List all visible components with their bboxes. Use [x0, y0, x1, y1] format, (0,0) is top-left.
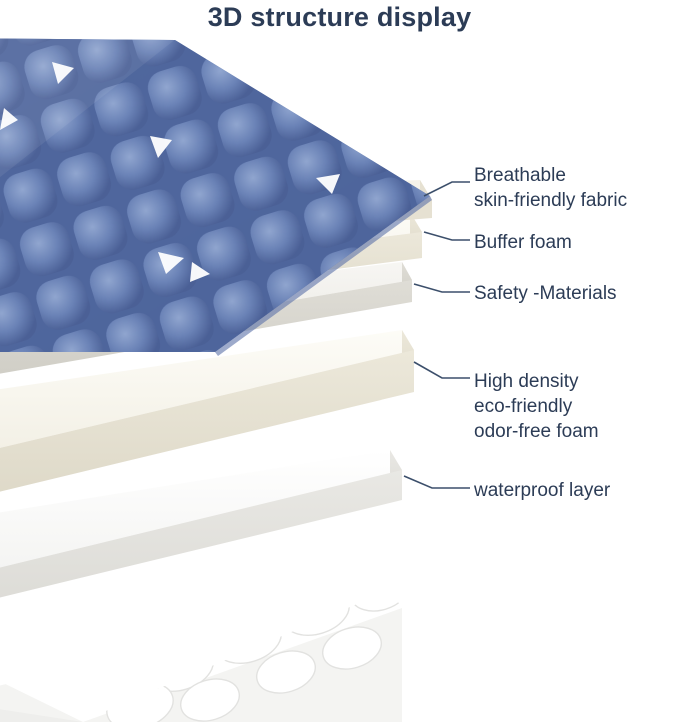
label-high-density-foam: High density eco-friendly odor-free foam	[474, 369, 599, 444]
label-waterproof-layer: waterproof layer	[474, 478, 610, 503]
structure-diagram: 3D structure display	[0, 0, 679, 722]
layer-base-quilt	[0, 562, 415, 722]
leader-line-buffer-foam	[424, 232, 470, 240]
leader-line-breathable-fabric	[424, 182, 470, 196]
layers-illustration	[0, 0, 679, 722]
leader-line-high-density-foam	[414, 362, 470, 378]
label-breathable-fabric: Breathable skin-friendly fabric	[474, 163, 627, 213]
label-safety-materials: Safety -Materials	[474, 281, 617, 306]
label-buffer-foam: Buffer foam	[474, 230, 572, 255]
leader-line-waterproof	[404, 476, 470, 488]
layer-fabric	[0, 20, 480, 380]
leader-line-safety-materials	[414, 284, 470, 292]
